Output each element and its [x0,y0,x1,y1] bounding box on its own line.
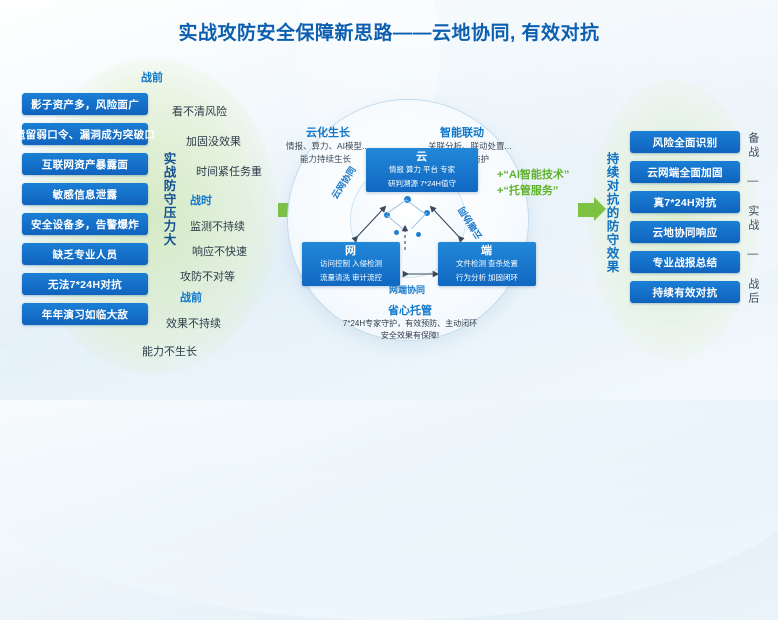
phase-timeline-label: 备战 — 实战 — 战后 [746,132,758,306]
problem-box-2: 遗留弱口令、漏洞成为突破口 [22,123,148,145]
stage1-item-3: 时间紧任务重 [196,163,262,179]
managed-service-title: 省心托管 [300,302,520,318]
infographic-canvas: 实战攻防安全保障新思路——云地协同, 有效对抗 影子资产多，风险面广 遗留弱口令… [0,0,778,400]
stage2-item-1: 监测不持续 [190,218,245,234]
green-note-line-2: +“托管服务” [497,184,569,200]
problem-box-8: 年年演习如临大敌 [22,303,148,325]
stage1-item-1: 看不清风险 [172,103,227,119]
problem-box-7: 无法7*24H对抗 [22,273,148,295]
result-box-4: 云地协同响应 [630,221,740,243]
stage-label-in-battle: 战时 [190,192,212,208]
problem-box-3: 互联网资产暴露面 [22,153,148,175]
bottom-sync-label: 网端协同 [352,283,462,296]
stage-label-post-battle: 战前 [180,289,202,305]
stage1-item-2: 加固没效果 [186,133,241,149]
stage-label-pre-battle: 战前 [141,69,163,85]
green-capability-note: +“AI智能技术” +“托管服务” [497,168,569,200]
result-box-5: 专业战报总结 [630,251,740,273]
right-vertical-label: 持续对抗的防守效果 [604,152,618,274]
problem-box-1: 影子资产多，风险面广 [22,93,148,115]
green-note-line-1: +“AI智能技术” [497,168,569,184]
result-box-3: 真7*24H对抗 [630,191,740,213]
stage3-item-2: 能力不生长 [142,343,197,359]
result-box-1: 风险全面识别 [630,131,740,153]
left-vertical-label: 实战防守压力大 [161,152,175,247]
managed-service-block: 省心托管 7*24H专家守护，有效预防、主动闭环 安全效果有保障! [300,302,520,342]
stage3-item-1: 效果不持续 [166,315,221,331]
managed-service-line-2: 安全效果有保障! [300,330,520,342]
managed-service-line-1: 7*24H专家守护，有效预防、主动闭环 [300,318,520,330]
result-box-2: 云网端全面加固 [630,161,740,183]
stage2-item-3: 攻防不对等 [180,268,235,284]
page-title: 实战攻防安全保障新思路——云地协同, 有效对抗 [0,18,778,45]
stage2-item-2: 响应不快速 [192,243,247,259]
problem-box-5: 安全设备多，告警爆炸 [22,213,148,235]
problem-box-6: 缺乏专业人员 [22,243,148,265]
problem-box-4: 敏感信息泄露 [22,183,148,205]
result-box-6: 持续有效对抗 [630,281,740,303]
